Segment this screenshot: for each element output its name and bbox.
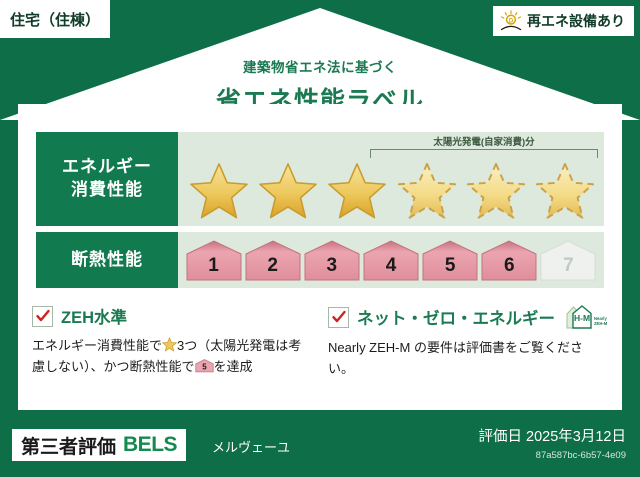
content-card: エネルギー 消費性能 太陽光発電(自家消費)分 <box>18 104 622 410</box>
bels-jp-label: 第三者評価 <box>21 432 116 459</box>
solar-bracket: 太陽光発電(自家消費)分 <box>368 134 600 160</box>
bels-en-label: BELS <box>123 433 177 457</box>
star-icon-solar <box>534 161 596 221</box>
star-icon-filled <box>188 161 250 221</box>
star-icon-filled <box>257 161 319 221</box>
insulation-label: 断熱性能 <box>71 249 143 272</box>
criterion-zeh-title: ZEH水準 <box>61 304 127 328</box>
svg-text:5: 5 <box>202 363 207 372</box>
insulation-level-1: 1 <box>185 238 243 282</box>
energy-performance-label-block: エネルギー 消費性能 <box>36 132 178 226</box>
insulation-level-7: 7 <box>539 238 597 282</box>
solar-bracket-line <box>370 149 598 158</box>
zeh-checkbox[interactable] <box>32 306 53 327</box>
renewable-energy-label: 再エネ設備あり <box>527 11 625 31</box>
insulation-level-2: 2 <box>244 238 302 282</box>
insulation-level-6: 6 <box>480 238 538 282</box>
svg-text:ZEH-M: ZEH-M <box>594 321 607 326</box>
criterion-net-zero-body: Nearly ZEH-M の要件は評価書をご覧ください。 <box>328 337 608 379</box>
criterion-zeh-body-pre: エネルギー消費性能で <box>32 338 162 353</box>
insulation-level-5: 5 <box>421 238 479 282</box>
building-type-label: 住宅（住棟） <box>10 9 100 30</box>
insulation-level-value: 1 <box>208 255 219 282</box>
star-icon-solar <box>465 161 527 221</box>
star-rating <box>184 160 600 222</box>
criterion-zeh: ZEH水準 エネルギー消費性能で3つ（太陽光発電は考慮しない）、かつ断熱性能で5… <box>32 304 312 379</box>
inline-house-badge-icon: 5 <box>195 358 214 373</box>
evaluation-info: 評価日 2025年3月12日 87a587bc-6b57-4e09 <box>479 425 626 461</box>
criterion-zeh-body: エネルギー消費性能で3つ（太陽光発電は考慮しない）、かつ断熱性能で5を達成 <box>32 335 312 377</box>
criteria-section: ZEH水準 エネルギー消費性能で3つ（太陽光発電は考慮しない）、かつ断熱性能で5… <box>32 304 608 379</box>
evaluation-date-label: 評価日 <box>479 429 523 445</box>
zeh-m-house-logo: H-M Nearly ZEH-M <box>565 304 607 330</box>
evaluation-date-value: 2025年3月12日 <box>526 429 626 445</box>
energy-performance-row: エネルギー 消費性能 太陽光発電(自家消費)分 <box>36 132 604 226</box>
insulation-level-value: 4 <box>386 255 397 282</box>
title-subtitle: 建築物省エネ法に基づく <box>0 56 640 76</box>
energy-label-line2: 消費性能 <box>71 179 143 202</box>
criterion-net-zero: ネット・ゼロ・エネルギー H-M Nearly ZEH-M Nearly ZEH… <box>328 304 608 379</box>
star-icon-solar <box>396 161 458 221</box>
insulation-performance-row: 断熱性能 1 2 3 <box>36 232 604 288</box>
svg-text:H-M: H-M <box>574 313 590 323</box>
evaluation-date: 評価日 2025年3月12日 <box>479 425 626 446</box>
svg-text:D: D <box>509 18 514 24</box>
insulation-level-3: 3 <box>303 238 361 282</box>
inline-star-icon <box>162 337 177 352</box>
insulation-rating-panel: 1 2 3 4 5 <box>178 232 604 288</box>
footer: 第三者評価 BELS メルヴェーユ 評価日 2025年3月12日 87a587b… <box>0 415 640 477</box>
evaluation-id: 87a587bc-6b57-4e09 <box>479 450 626 461</box>
insulation-level-value: 2 <box>267 255 278 282</box>
check-icon <box>331 309 347 325</box>
energy-performance-label: 住宅（住棟） D 再エネ設備あり 建築物省エネ法に基づく 省エネ性能ラベル エネ… <box>0 0 640 477</box>
owner-name: メルヴェーユ <box>212 437 290 456</box>
criterion-net-zero-header: ネット・ゼロ・エネルギー H-M Nearly ZEH-M <box>328 304 608 330</box>
star-icon-filled <box>326 161 388 221</box>
solar-bracket-label: 太陽光発電(自家消費)分 <box>368 134 600 148</box>
check-icon <box>35 308 51 324</box>
sun-icon: D <box>499 10 523 32</box>
criterion-zeh-body-post: を達成 <box>214 359 253 374</box>
insulation-level-value: 5 <box>445 255 456 282</box>
criterion-net-zero-title: ネット・ゼロ・エネルギー <box>357 305 555 329</box>
insulation-level-value: 7 <box>563 255 574 282</box>
criterion-zeh-header: ZEH水準 <box>32 304 312 328</box>
insulation-scale: 1 2 3 4 5 <box>184 236 598 284</box>
net-zero-checkbox[interactable] <box>328 307 349 328</box>
building-type-tag: 住宅（住棟） <box>0 0 110 38</box>
bels-certification-badge: 第三者評価 BELS <box>12 429 186 461</box>
insulation-performance-label-block: 断熱性能 <box>36 232 178 288</box>
renewable-energy-badge: D 再エネ設備あり <box>493 6 634 36</box>
insulation-level-4: 4 <box>362 238 420 282</box>
insulation-level-value: 6 <box>504 255 515 282</box>
energy-label-line1: エネルギー <box>62 156 152 179</box>
insulation-level-value: 3 <box>327 255 338 282</box>
energy-rating-panel: 太陽光発電(自家消費)分 <box>178 132 604 226</box>
